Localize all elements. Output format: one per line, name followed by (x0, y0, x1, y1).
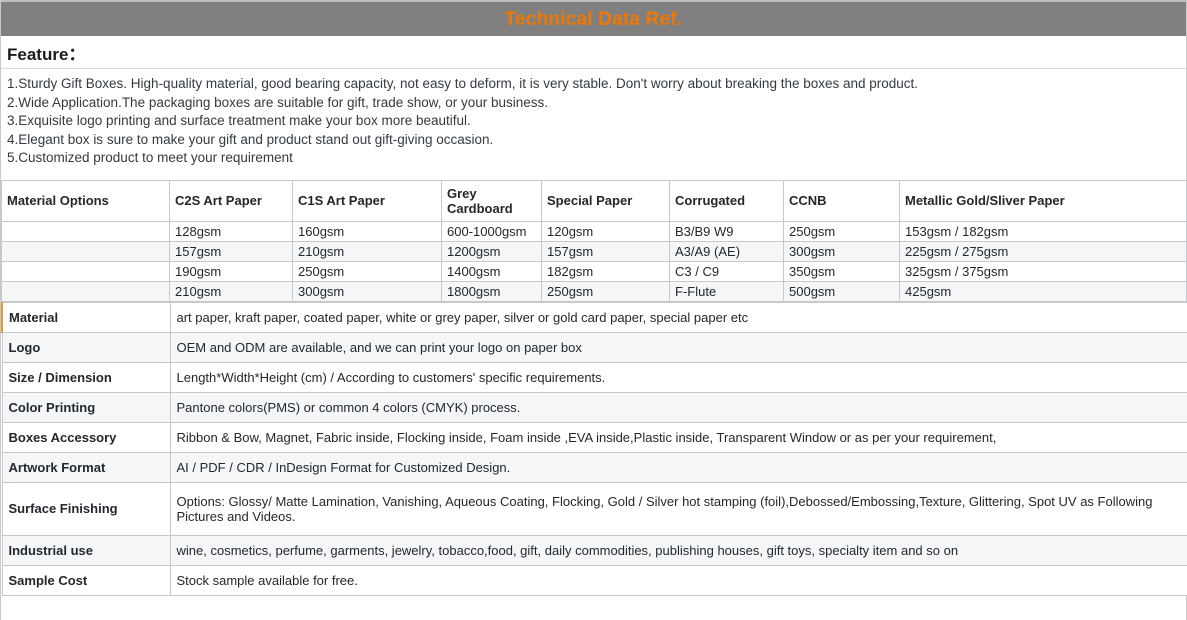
spec-label-material: Material (2, 302, 170, 332)
cell-grey-cardboard: 600-1000gsm (442, 221, 542, 241)
cell-corrugated: F-Flute (670, 281, 784, 301)
cell-c2s-art-paper: 157gsm (170, 241, 293, 261)
cell-special-paper: 120gsm (542, 221, 670, 241)
column-header-corrugated: Corrugated (670, 180, 784, 221)
cell-special-paper: 157gsm (542, 241, 670, 261)
cell-special-paper: 250gsm (542, 281, 670, 301)
feature-item: 2.Wide Application.The packaging boxes a… (7, 94, 1180, 113)
cell-c1s-art-paper: 250gsm (293, 261, 442, 281)
spec-value-industrial-use: wine, cosmetics, perfume, garments, jewe… (170, 535, 1187, 565)
cell-c2s-art-paper: 128gsm (170, 221, 293, 241)
cell-c2s-art-paper: 210gsm (170, 281, 293, 301)
spec-value-sample-cost: Stock sample available for free. (170, 565, 1187, 595)
spec-row-material: Material art paper, kraft paper, coated … (2, 302, 1187, 332)
feature-item: 3.Exquisite logo printing and surface tr… (7, 112, 1180, 131)
page-title: Technical Data Ref. (505, 10, 683, 29)
cell-c1s-art-paper: 210gsm (293, 241, 442, 261)
spec-value-artwork-format: AI / PDF / CDR / InDesign Format for Cus… (170, 452, 1187, 482)
cell-ccnb: 300gsm (784, 241, 900, 261)
spec-value-color-printing: Pantone colors(PMS) or common 4 colors (… (170, 392, 1187, 422)
feature-item: 1.Sturdy Gift Boxes. High-quality materi… (7, 75, 1180, 94)
cell-metallic-paper: 425gsm (900, 281, 1187, 301)
column-header-material-options: Material Options (2, 180, 170, 221)
spec-row-logo: Logo OEM and ODM are available, and we c… (2, 332, 1187, 362)
specification-table: Material art paper, kraft paper, coated … (1, 302, 1187, 596)
spec-label-size-dimension: Size / Dimension (2, 362, 170, 392)
cell-material-options (2, 281, 170, 301)
spec-row-sample-cost: Sample Cost Stock sample available for f… (2, 565, 1187, 595)
spec-row-industrial-use: Industrial use wine, cosmetics, perfume,… (2, 535, 1187, 565)
table-row: 210gsm 300gsm 1800gsm 250gsm F-Flute 500… (2, 281, 1187, 301)
table-row: 157gsm 210gsm 1200gsm 157gsm A3/A9 (AE) … (2, 241, 1187, 261)
technical-data-sheet: Technical Data Ref. Feature： 1.Sturdy Gi… (0, 0, 1187, 620)
table-header-row: Material Options C2S Art Paper C1S Art P… (2, 180, 1187, 221)
cell-grey-cardboard: 1200gsm (442, 241, 542, 261)
spec-label-surface-finishing: Surface Finishing (2, 482, 170, 535)
table-row: 128gsm 160gsm 600-1000gsm 120gsm B3/B9 W… (2, 221, 1187, 241)
column-header-special-paper: Special Paper (542, 180, 670, 221)
spec-value-boxes-accessory: Ribbon & Bow, Magnet, Fabric inside, Flo… (170, 422, 1187, 452)
cell-material-options (2, 221, 170, 241)
spec-value-surface-finishing: Options: Glossy/ Matte Lamination, Vanis… (170, 482, 1187, 535)
spec-label-sample-cost: Sample Cost (2, 565, 170, 595)
feature-item: 5.Customized product to meet your requir… (7, 149, 1180, 168)
spec-label-logo: Logo (2, 332, 170, 362)
cell-material-options (2, 241, 170, 261)
feature-heading: Feature： (1, 36, 1186, 69)
spec-label-color-printing: Color Printing (2, 392, 170, 422)
material-options-table: Material Options C2S Art Paper C1S Art P… (1, 180, 1187, 302)
spec-row-color-printing: Color Printing Pantone colors(PMS) or co… (2, 392, 1187, 422)
cell-material-options (2, 261, 170, 281)
cell-grey-cardboard: 1400gsm (442, 261, 542, 281)
spec-label-boxes-accessory: Boxes Accessory (2, 422, 170, 452)
spec-value-size-dimension: Length*Width*Height (cm) / According to … (170, 362, 1187, 392)
cell-corrugated: C3 / C9 (670, 261, 784, 281)
spec-row-artwork-format: Artwork Format AI / PDF / CDR / InDesign… (2, 452, 1187, 482)
spec-row-surface-finishing: Surface Finishing Options: Glossy/ Matte… (2, 482, 1187, 535)
cell-c2s-art-paper: 190gsm (170, 261, 293, 281)
spec-label-industrial-use: Industrial use (2, 535, 170, 565)
cell-ccnb: 250gsm (784, 221, 900, 241)
cell-c1s-art-paper: 300gsm (293, 281, 442, 301)
spec-label-artwork-format: Artwork Format (2, 452, 170, 482)
spec-value-logo: OEM and ODM are available, and we can pr… (170, 332, 1187, 362)
column-header-grey-cardboard: Grey Cardboard (442, 180, 542, 221)
cell-corrugated: A3/A9 (AE) (670, 241, 784, 261)
cell-metallic-paper: 153gsm / 182gsm (900, 221, 1187, 241)
cell-ccnb: 500gsm (784, 281, 900, 301)
column-header-c2s-art-paper: C2S Art Paper (170, 180, 293, 221)
column-header-metallic-gold-sliver-paper: Metallic Gold/Sliver Paper (900, 180, 1187, 221)
table-row: 190gsm 250gsm 1400gsm 182gsm C3 / C9 350… (2, 261, 1187, 281)
column-header-ccnb: CCNB (784, 180, 900, 221)
title-bar: Technical Data Ref. (1, 0, 1186, 36)
cell-metallic-paper: 225gsm / 275gsm (900, 241, 1187, 261)
feature-item: 4.Elegant box is sure to make your gift … (7, 131, 1180, 150)
cell-special-paper: 182gsm (542, 261, 670, 281)
spec-row-boxes-accessory: Boxes Accessory Ribbon & Bow, Magnet, Fa… (2, 422, 1187, 452)
cell-c1s-art-paper: 160gsm (293, 221, 442, 241)
feature-list: 1.Sturdy Gift Boxes. High-quality materi… (1, 69, 1186, 172)
feature-heading-label: Feature： (7, 40, 85, 65)
column-header-c1s-art-paper: C1S Art Paper (293, 180, 442, 221)
cell-corrugated: B3/B9 W9 (670, 221, 784, 241)
cell-grey-cardboard: 1800gsm (442, 281, 542, 301)
cell-ccnb: 350gsm (784, 261, 900, 281)
spec-value-material: art paper, kraft paper, coated paper, wh… (170, 302, 1187, 332)
cell-metallic-paper: 325gsm / 375gsm (900, 261, 1187, 281)
spec-row-size-dimension: Size / Dimension Length*Width*Height (cm… (2, 362, 1187, 392)
